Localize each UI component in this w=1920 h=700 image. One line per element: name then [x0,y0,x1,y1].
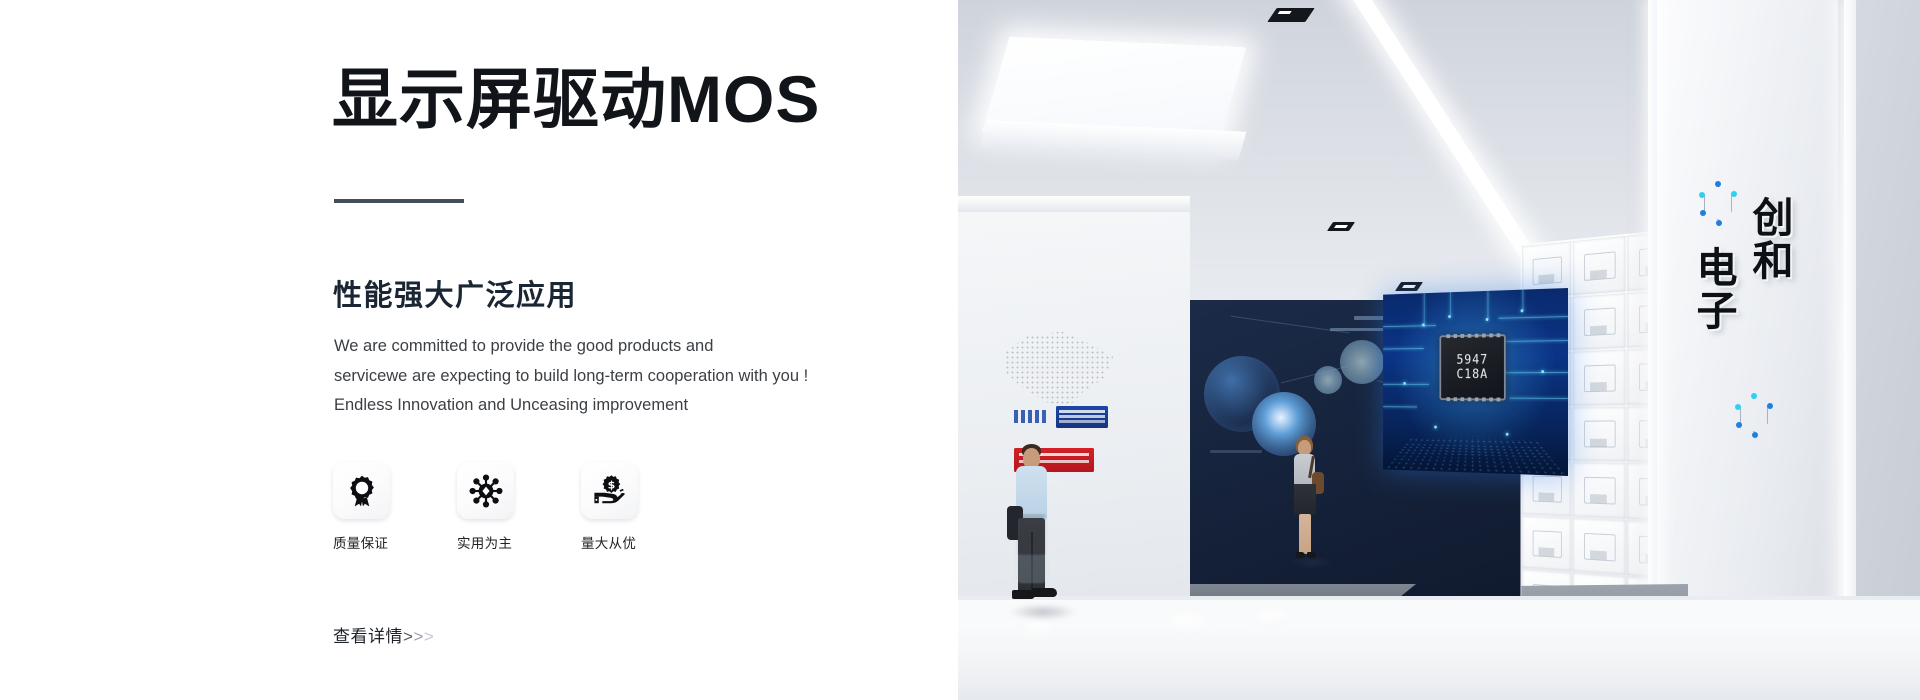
svg-text:$: $ [607,478,615,491]
floor-light-reflection [1246,604,1294,626]
banner-text-column: 显示屏驱动MOS 性能强大广泛应用 We are committed to pr… [0,0,958,700]
chevron-right-icon-2: > [413,627,423,647]
floor-gloss-highlight [958,600,1920,700]
feature-label: 质量保证 [333,532,401,552]
chevron-right-icon-3: > [424,627,434,647]
banner-description: We are committed to provide the good pro… [334,332,808,421]
company-wall-sign: 创和 电子 [1676,196,1826,446]
title-divider [334,199,464,203]
description-line-1: We are committed to provide the good pro… [334,332,808,362]
description-line-2: servicewe are expecting to build long-te… [334,362,808,392]
person-shadow [1010,604,1076,620]
product-tile [1573,463,1625,519]
feature-list: 质量保证 [333,462,649,552]
wall-graphic-circle [1340,340,1384,384]
hand-money-badge: $ [581,462,638,519]
wall-logo-plaque [1014,410,1048,423]
product-tile [1522,516,1571,572]
product-tile [1573,407,1625,462]
sign-column-left: 电子 [1688,246,1738,332]
hexagon-molecule-icon [1734,392,1774,438]
person-visitor-female [1288,428,1328,556]
product-tile [1573,293,1625,350]
person-legs [1299,514,1311,554]
feature-label: 量大从优 [581,532,649,552]
view-details-label: 查看详情 [333,622,403,647]
description-line-3: Endless Innovation and Unceasing improve… [334,391,808,421]
chip-label-line2: C18A [1456,367,1488,382]
award-ribbon-icon [345,474,379,508]
person-shoe [1307,552,1316,558]
product-hero-banner: 显示屏驱动MOS 性能强大广泛应用 We are committed to pr… [0,0,1920,700]
feature-item-volume-discount[interactable]: $ 量大从优 [581,462,649,552]
hexagon-molecule-icon [1698,180,1738,226]
person-floor-reflection [1006,509,1058,603]
product-tile [1573,350,1625,406]
floor-light-reflection [1018,618,1058,636]
person-skirt [1294,484,1316,515]
chip-label-line1: 5947 [1456,353,1488,368]
hand-money-icon: $ [593,474,627,508]
feature-label: 实用为主 [457,532,525,552]
award-ribbon-badge [333,462,390,519]
showroom-interior-photo: 5947 C18A 创和 电子 [958,0,1920,700]
person-shoe [1296,552,1305,558]
network-hub-icon [469,474,503,508]
led-video-wall: 5947 C18A [1383,288,1568,476]
network-hub-badge [457,462,514,519]
feature-item-practical[interactable]: 实用为主 [457,462,525,552]
feature-item-quality[interactable]: 质量保证 [333,462,401,552]
panel-edge-light-right [1844,0,1856,700]
product-tile [1573,518,1625,575]
far-wall-surface [1856,0,1920,700]
view-details-link[interactable]: 查看详情 > > > [333,622,434,647]
chip-graphic: 5947 C18A [1439,334,1505,400]
blue-info-plaque [1056,406,1108,428]
led-dot-field [1383,435,1568,476]
wall-graphic-text [1210,450,1262,453]
left-partition-top-edge [958,196,1190,212]
product-tile [1573,236,1625,295]
floor-light-reflection [1158,608,1214,634]
chevron-right-icon-1: > [403,627,413,647]
banner-subtitle: 性能强大广泛应用 [333,272,577,314]
sign-column-right: 创和 [1744,196,1794,282]
page-title: 显示屏驱动MOS [332,62,820,138]
